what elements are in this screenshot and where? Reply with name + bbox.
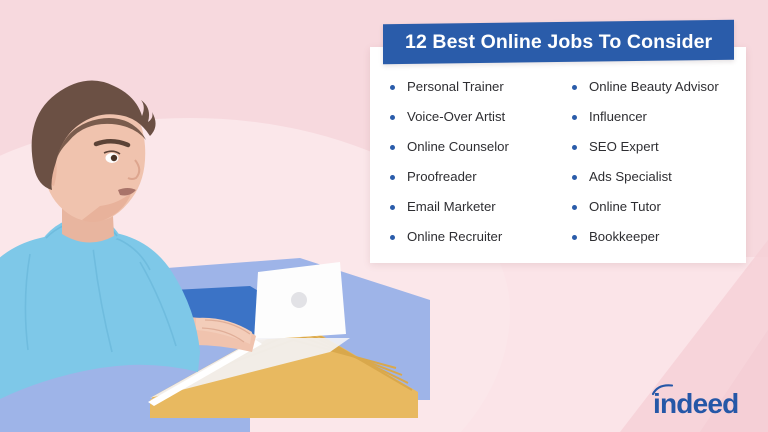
illustration-person-at-desk [0,0,430,432]
list-item[interactable]: Online Tutor [572,192,746,222]
list-item[interactable]: Influencer [572,102,746,132]
bullet-icon [572,115,577,120]
list-item-label: Ads Specialist [589,170,672,183]
bullet-icon [390,235,395,240]
bullet-icon [390,115,395,120]
list-item-label: Bookkeeper [589,230,659,243]
list-item[interactable]: Ads Specialist [572,162,746,192]
page-title: 12 Best Online Jobs To Consider [405,31,712,54]
list-item-label: Online Counselor [407,140,509,153]
list-item-label: Online Tutor [589,200,661,213]
bullet-icon [572,235,577,240]
person-head [32,81,156,222]
list-item-label: Online Recruiter [407,230,502,243]
indeed-wordmark: indeed [653,388,738,419]
jobs-list-right-column: Online Beauty Advisor Influencer SEO Exp… [572,72,746,262]
bullet-icon [572,85,577,90]
list-item-label: Online Beauty Advisor [589,80,719,93]
card-header-banner: 12 Best Online Jobs To Consider [383,20,734,65]
list-item-label: Proofreader [407,170,477,183]
list-item[interactable]: Voice-Over Artist [390,102,572,132]
jobs-list-columns: Personal Trainer Voice-Over Artist Onlin… [370,72,746,262]
list-item-label: Voice-Over Artist [407,110,505,123]
bullet-icon [390,205,395,210]
bullet-icon [572,205,577,210]
infographic-canvas: 12 Best Online Jobs To Consider Personal… [0,0,768,432]
bullet-icon [572,145,577,150]
list-item[interactable]: Online Beauty Advisor [572,72,746,102]
list-item[interactable]: Online Counselor [390,132,572,162]
list-item-label: Email Marketer [407,200,496,213]
list-item[interactable]: Bookkeeper [572,222,746,252]
list-item-label: Influencer [589,110,647,123]
bullet-icon [390,85,395,90]
bullet-icon [390,175,395,180]
list-item-label: SEO Expert [589,140,659,153]
list-item[interactable]: Online Recruiter [390,222,572,252]
list-item[interactable]: Email Marketer [390,192,572,222]
list-item[interactable]: Personal Trainer [390,72,572,102]
list-item[interactable]: SEO Expert [572,132,746,162]
list-item[interactable]: Proofreader [390,162,572,192]
bullet-icon [572,175,577,180]
list-item-label: Personal Trainer [407,80,504,93]
bullet-icon [390,145,395,150]
indeed-logo[interactable]: indeed [650,383,754,419]
jobs-list-left-column: Personal Trainer Voice-Over Artist Onlin… [370,72,572,262]
